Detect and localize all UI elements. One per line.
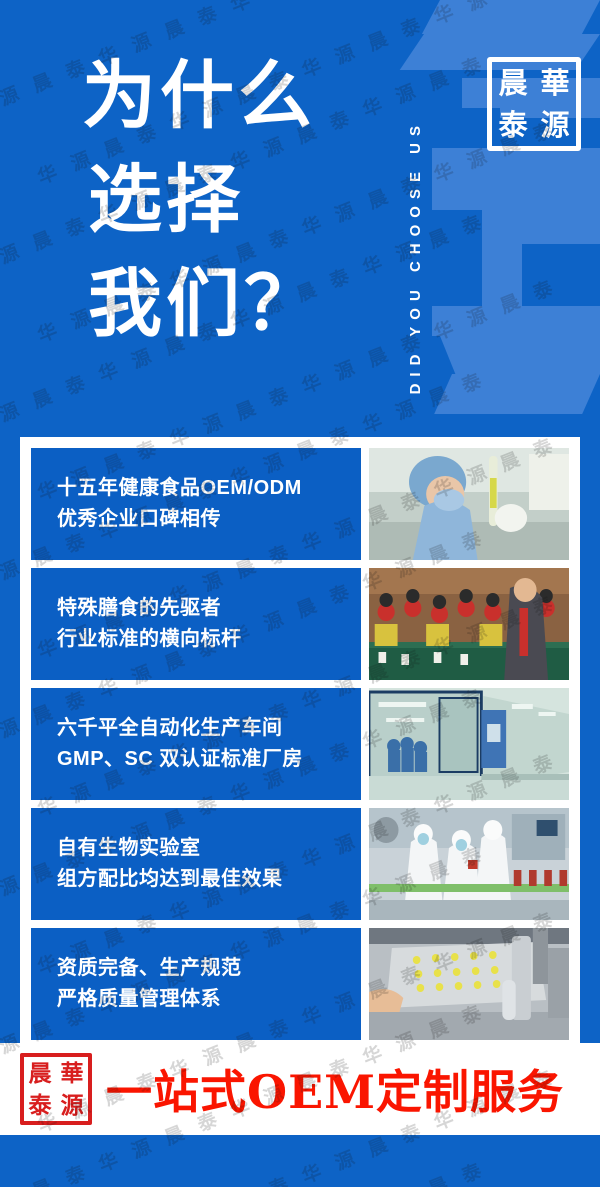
seal-char-4: 泰	[24, 1089, 56, 1121]
vertical-english-caption: DID YOU CHOOSE US	[398, 22, 432, 394]
bottom-service-banner: 華 晨 源 泰 一站式OEM定制服务	[0, 1043, 600, 1135]
header-section: 为什么 选择 我们？ DID YOU CHOOSE US 華 晨 源 泰	[0, 0, 600, 438]
feature-card: 资质完备、生产规范 严格质量管理体系	[31, 928, 569, 1040]
seal-char-2: 晨	[24, 1057, 56, 1089]
feature-line-2: 组方配比均达到最佳效果	[57, 864, 361, 895]
seal-char-3: 源	[56, 1089, 88, 1121]
feature-line-1: 资质完备、生产规范	[57, 953, 361, 984]
seal-char-3: 源	[534, 104, 576, 146]
photo-tablet-packaging-machine	[369, 928, 569, 1040]
seal-char-1: 華	[534, 62, 576, 104]
feature-line-2: 优秀企业口碑相传	[57, 504, 361, 535]
poster-root: 为什么 选择 我们？ DID YOU CHOOSE US 華 晨 源 泰 十五年…	[0, 0, 600, 1187]
features-frame: 十五年健康食品OEM/ODM 优秀企业口碑相传	[20, 437, 580, 1043]
seal-char-1: 華	[56, 1057, 88, 1089]
feature-line-1: 特殊膳食的先驱者	[57, 593, 361, 624]
page-title: 为什么 选择 我们？	[82, 44, 382, 356]
feature-card-text: 资质完备、生产规范 严格质量管理体系	[31, 928, 361, 1040]
title-line-2: 选择	[82, 148, 382, 252]
title-line-1: 为什么	[82, 44, 382, 148]
feature-card-text: 特殊膳食的先驱者 行业标准的横向标杆	[31, 568, 361, 680]
seal-char-2: 晨	[492, 62, 534, 104]
feature-line-1: 六千平全自动化生产车间	[57, 713, 361, 744]
feature-card: 自有生物实验室 组方配比均达到最佳效果	[31, 808, 569, 920]
feature-line-2: 严格质量管理体系	[57, 984, 361, 1015]
vertical-english-text: DID YOU CHOOSE US	[407, 119, 424, 394]
feature-card: 十五年健康食品OEM/ODM 优秀企业口碑相传	[31, 448, 569, 560]
photo-lab-technician-pipette	[369, 448, 569, 560]
feature-card-text: 六千平全自动化生产车间 GMP、SC 双认证标准厂房	[31, 688, 361, 800]
feature-line-1: 自有生物实验室	[57, 833, 361, 864]
banner-headline: 一站式OEM定制服务	[106, 1056, 564, 1122]
bottom-blue-strip	[0, 1135, 600, 1187]
feature-line-2: 行业标准的横向标杆	[57, 624, 361, 655]
feature-card-text: 十五年健康食品OEM/ODM 优秀企业口碑相传	[31, 448, 361, 560]
photo-production-line-staff	[369, 808, 569, 920]
feature-line-2: GMP、SC 双认证标准厂房	[57, 744, 361, 775]
brand-seal-icon: 華 晨 源 泰	[487, 57, 581, 151]
feature-card-list: 十五年健康食品OEM/ODM 优秀企业口碑相传	[31, 448, 569, 1043]
feature-card-text: 自有生物实验室 组方配比均达到最佳效果	[31, 808, 361, 920]
feature-line-1: 十五年健康食品OEM/ODM	[57, 473, 361, 504]
brand-seal-red-icon: 華 晨 源 泰	[20, 1053, 92, 1125]
photo-cleanroom-corridor	[369, 688, 569, 800]
feature-card: 六千平全自动化生产车间 GMP、SC 双认证标准厂房	[31, 688, 569, 800]
seal-char-4: 泰	[492, 104, 534, 146]
photo-conference-audience	[369, 568, 569, 680]
feature-card: 特殊膳食的先驱者 行业标准的横向标杆	[31, 568, 569, 680]
title-line-3: 我们？	[82, 252, 382, 356]
